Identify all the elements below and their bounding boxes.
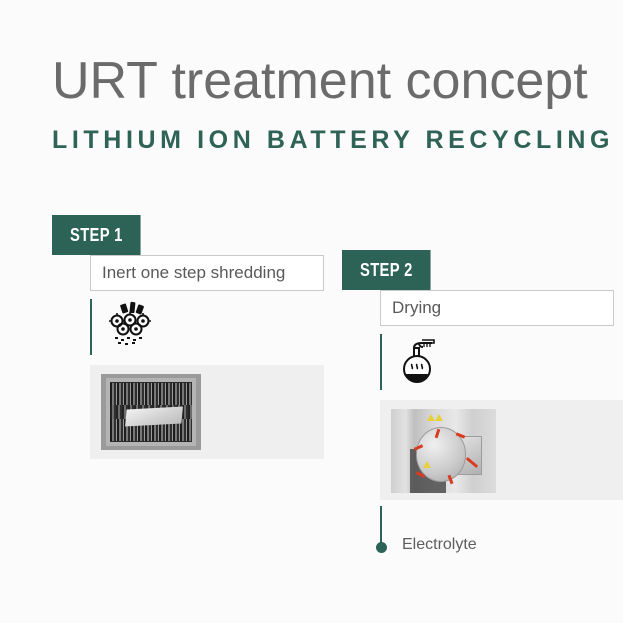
step-1-icon-row [90,299,324,355]
step-1-body: Inert one step shredding [90,255,324,459]
electrolyte-node-dot [376,542,387,553]
step-2-photo-panel [380,400,623,500]
step-2-connector-line [380,334,382,390]
vacuum-dryer-photo [391,409,496,493]
step-2-icon-row [380,334,614,390]
step-1-connector-line [90,299,92,355]
shredder-rotor-photo [101,374,201,450]
step-2-label: Drying [380,290,614,326]
step-card-2: STEP 2 Drying [342,250,614,560]
shredder-icon [104,301,156,353]
step-2-output-electrolyte: Electrolyte [380,506,614,560]
step-1-photo-panel [90,365,324,459]
step-2-body: Drying [380,290,614,560]
page-subtitle: LITHIUM ION BATTERY RECYCLING [52,126,623,155]
step-1-label: Inert one step shredding [90,255,324,291]
step-card-1: STEP 1 Inert one step shredding [52,215,324,459]
page-title: URT treatment concept [52,52,623,110]
step-2-badge-wrap: STEP 2 [342,250,614,290]
step-1-badge: STEP 1 [52,215,141,255]
step-1-badge-wrap: STEP 1 [52,215,324,255]
step-2-badge: STEP 2 [342,250,431,290]
electrolyte-label: Electrolyte [402,536,477,554]
drying-flask-icon [394,336,446,388]
page-header: URT treatment concept LITHIUM ION BATTER… [52,52,623,155]
